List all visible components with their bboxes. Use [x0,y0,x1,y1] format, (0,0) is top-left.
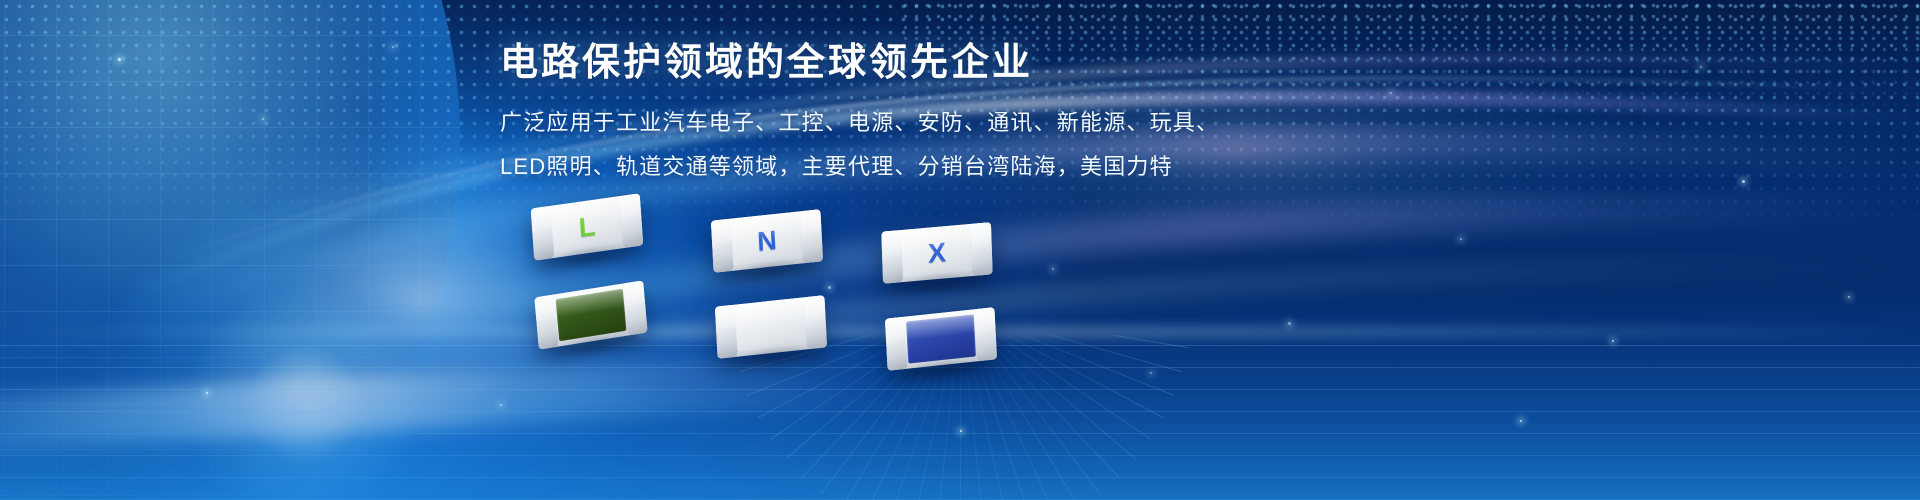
smd-component-stage: L N X [500,185,1040,385]
sparkle-dot [1288,322,1291,325]
chip-terminal-left [711,219,734,273]
hero-banner: 电路保护领域的全球领先企业 广泛应用于工业汽车电子、工控、电源、安防、通讯、新能… [0,0,1920,500]
chip-terminal-left [881,230,903,284]
smd-chip-l: L [531,193,644,260]
smd-chip-n: N [711,209,823,272]
sparkle-dot [262,118,264,120]
banner-headline: 电路保护领域的全球领先企业 [500,40,1400,88]
sparkle-dot [392,46,394,48]
chip-terminal-right [800,209,823,263]
sparkle-dot [1460,238,1462,240]
chip-terminal-right [804,295,827,349]
chip-terminal-right [971,222,993,276]
smd-chip-blank [715,295,827,358]
chip-face [736,302,806,351]
sparkle-dot [1052,268,1054,270]
sparkle-dot [1612,340,1614,342]
chip-marking-text: N [757,226,778,255]
smd-chip-green [534,280,647,349]
sparkle-dot [960,430,962,432]
sparkle-dot [1742,180,1745,183]
banner-subtitle-line-1: 广泛应用于工业汽车电子、工控、电源、安防、通讯、新能源、玩具、 [500,102,1400,145]
sparkle-dot [118,58,121,61]
sparkle-dot [206,392,208,394]
sparkle-dot [1848,296,1850,298]
chip-terminal-left [531,206,554,261]
sparkle-dot [1520,420,1522,422]
chip-face [906,314,976,363]
chip-marking-text: L [578,212,596,241]
chip-terminal-right [623,280,647,335]
smd-chip-blue [885,307,997,370]
banner-copy: 电路保护领域的全球领先企业 广泛应用于工业汽车电子、工控、电源、安防、通讯、新能… [500,40,1400,189]
chip-terminal-right [620,193,643,248]
banner-subtitle-line-2: LED照明、轨道交通等领域，主要代理、分销台湾陆海，美国力特 [500,146,1400,189]
sparkle-dot [1150,372,1152,374]
chip-face: X [902,229,971,277]
chip-terminal-right [974,307,997,361]
chip-marking-text: X [928,239,947,268]
chip-terminal-left [715,305,738,359]
chip-face: N [732,216,802,265]
smd-chip-x: X [881,222,992,284]
sparkle-dot [500,404,502,406]
sparkle-dot [1700,66,1702,68]
chip-terminal-left [885,317,908,371]
